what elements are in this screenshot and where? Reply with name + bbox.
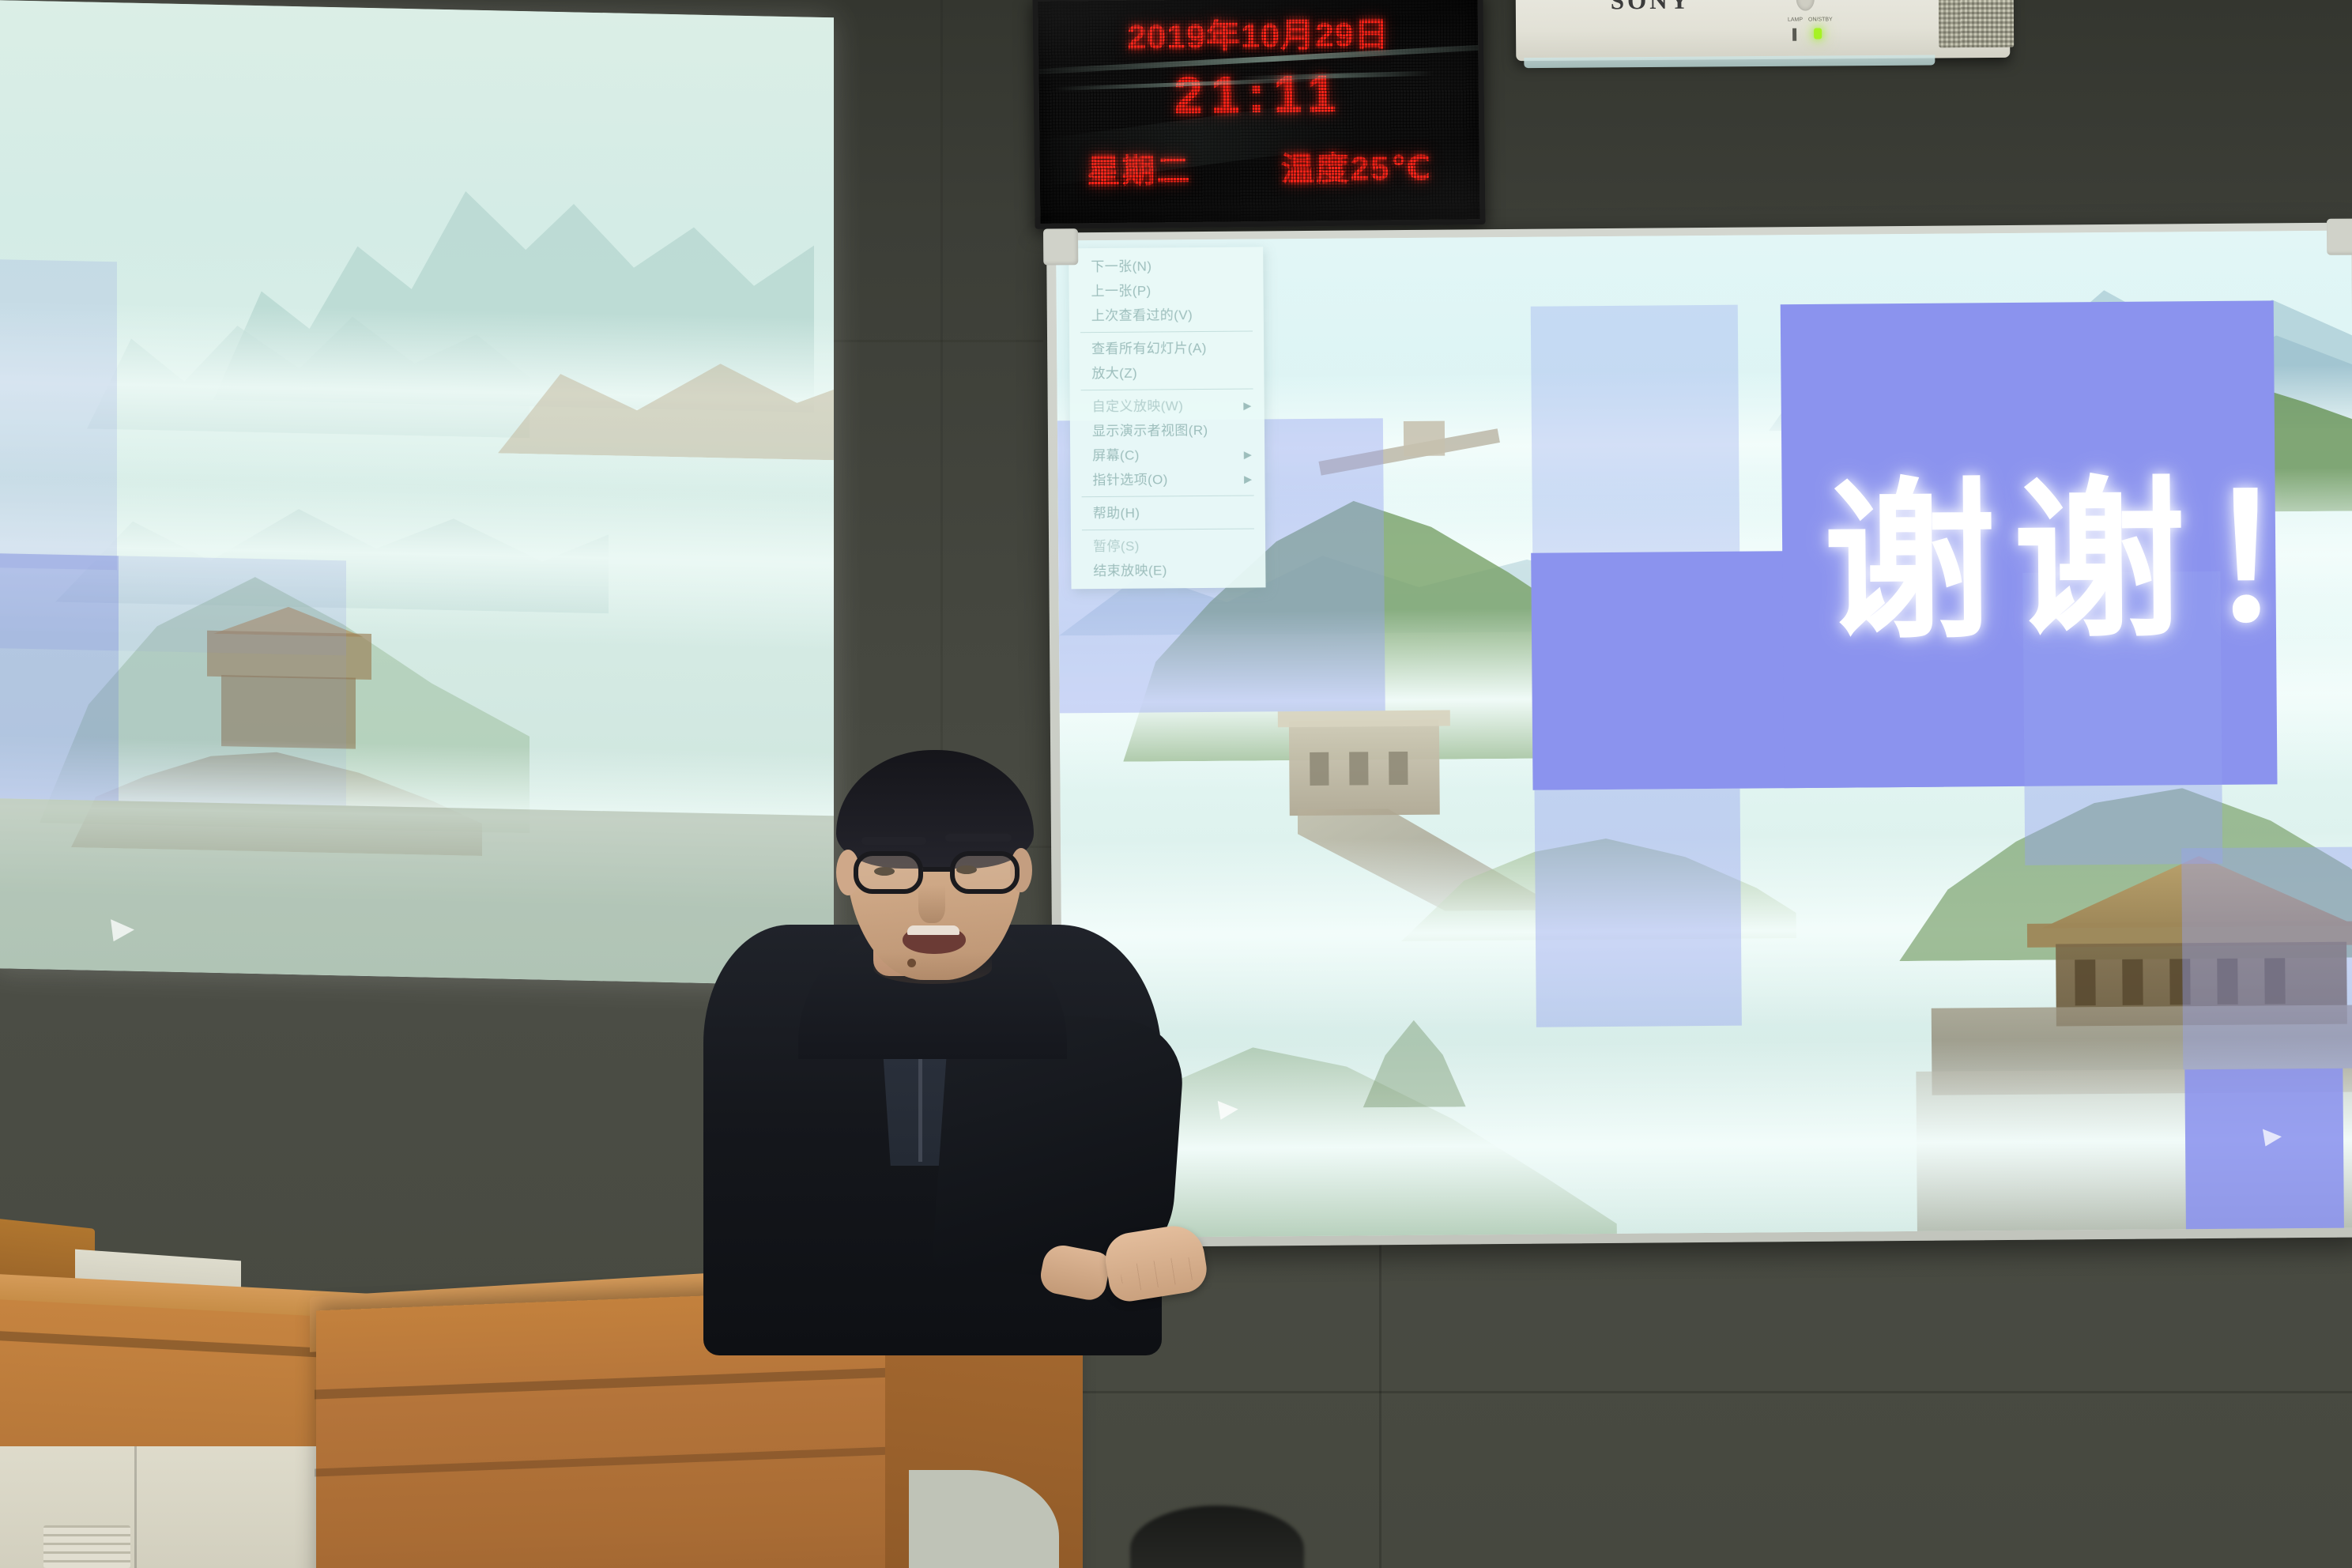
presenter-chin xyxy=(873,952,992,984)
led-weekday: 星期二 xyxy=(1087,144,1192,193)
whiteboard-corner xyxy=(1043,228,1078,265)
projector-lamp-led xyxy=(1792,28,1796,41)
projection-surface[interactable]: 谢谢！ 下一张(N) 上一张(P) 上次查看过的(V) 查看所有幻灯片(A) xyxy=(1056,231,2352,1238)
menu-item-see-all-slides[interactable]: 查看所有幻灯片(A) xyxy=(1069,335,1264,361)
whiteboard-screen[interactable]: 谢谢！ 下一张(N) 上一张(P) 上次查看过的(V) 查看所有幻灯片(A) xyxy=(1046,223,2352,1248)
led-weekday-temp: 星期二 温度25℃ xyxy=(1039,141,1479,194)
menu-item-zoom-in[interactable]: 放大(Z) xyxy=(1069,360,1264,386)
whiteboard-corner xyxy=(2327,218,2352,254)
menu-item-help[interactable]: 帮助(H) xyxy=(1071,499,1265,526)
menu-item-pause[interactable]: 暂停(S) xyxy=(1071,533,1265,559)
menu-item-show-presenter-view[interactable]: 显示演示者视图(R) xyxy=(1070,417,1265,443)
glasses-lens xyxy=(854,851,923,894)
ceiling-projector: SONY LAMP ON/STBY xyxy=(1516,0,2011,61)
standby-indicator-label: ON/STBY xyxy=(1808,17,1833,22)
led-info-board: 2019年10月29日 21:11 星期二 温度25℃ xyxy=(1032,0,1485,229)
projector-vent xyxy=(1939,0,2015,47)
chevron-right-icon: ▶ xyxy=(1244,443,1253,467)
lamp-indicator-label: LAMP xyxy=(1788,17,1803,23)
menu-separator xyxy=(1080,330,1253,333)
menu-separator xyxy=(1082,528,1254,530)
menu-item-last-viewed[interactable]: 上次查看过的(V) xyxy=(1069,302,1264,328)
presenter-eyebrow xyxy=(945,834,1012,842)
menu-item-custom-show[interactable]: 自定义放映(W) ▶ xyxy=(1070,393,1265,419)
classroom-scene: 2019年10月29日 21:11 星期二 温度25℃ SONY LAMP ON… xyxy=(0,0,2352,1568)
chevron-right-icon: ▶ xyxy=(1244,467,1253,492)
menu-item-pointer-options[interactable]: 指针选项(O) ▶ xyxy=(1070,466,1265,492)
presenter-teeth xyxy=(907,925,959,935)
menu-separator xyxy=(1082,495,1254,497)
menu-separator xyxy=(1081,388,1253,390)
cabinet-vent xyxy=(43,1525,130,1568)
projector-brand-label: SONY xyxy=(1611,0,1691,15)
chevron-right-icon: ▶ xyxy=(1243,394,1252,418)
slide-accent-block xyxy=(1531,305,1739,558)
slideshow-context-menu[interactable]: 下一张(N) 上一张(P) 上次查看过的(V) 查看所有幻灯片(A) 放大(Z)… xyxy=(1069,247,1265,589)
led-temperature: 温度25℃ xyxy=(1280,141,1432,191)
projector-sensor xyxy=(1796,0,1815,11)
slide-accent-block xyxy=(2181,846,2352,1069)
menu-item-next-slide[interactable]: 下一张(N) xyxy=(1069,253,1263,279)
presenter-nose xyxy=(918,885,945,923)
led-time: 21:11 xyxy=(1038,62,1479,126)
powerpoint-slide[interactable]: 谢谢！ 下一张(N) 上一张(P) 上次查看过的(V) 查看所有幻灯片(A) xyxy=(1056,231,2352,1238)
slide-accent-block xyxy=(1535,789,1742,1027)
led-date: 2019年10月29日 xyxy=(1038,6,1479,60)
presenter xyxy=(703,755,1162,1355)
projector-power-led xyxy=(1814,28,1822,39)
glasses-lens xyxy=(950,851,1020,894)
slide-accent-block xyxy=(2184,1069,2344,1238)
presenter-eyebrow xyxy=(861,837,926,845)
slide-headline: 谢谢！ xyxy=(1822,418,2352,673)
menu-item-end-show[interactable]: 结束放映(E) xyxy=(1071,557,1265,583)
menu-item-screen[interactable]: 屏幕(C) ▶ xyxy=(1070,442,1265,468)
wall-seam xyxy=(1071,1391,2352,1393)
cabinet-divider xyxy=(134,1446,137,1568)
glasses-bridge xyxy=(923,867,952,872)
menu-item-previous-slide[interactable]: 上一张(P) xyxy=(1069,277,1263,303)
